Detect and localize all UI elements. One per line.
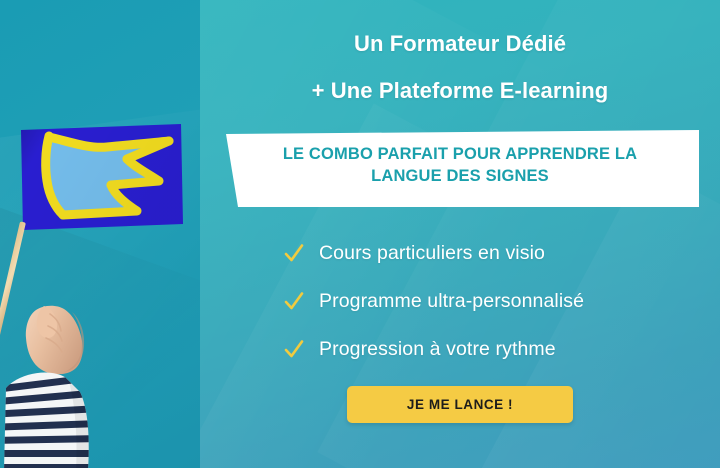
content-panel: Un Formateur Dédié + Une Plateforme E-le… xyxy=(200,0,720,468)
sign-language-flag xyxy=(18,122,184,234)
headline-group: Un Formateur Dédié + Une Plateforme E-le… xyxy=(200,30,720,104)
check-icon xyxy=(282,241,306,265)
highlight-strip-text: LE COMBO PARFAIT POUR APPRENDRE LA LANGU… xyxy=(240,144,680,188)
check-icon xyxy=(282,289,306,313)
list-item-label: Cours particuliers en visio xyxy=(319,242,545,265)
photo-panel xyxy=(0,0,200,468)
hand-icon xyxy=(22,288,94,378)
list-item: Progression à votre rythme xyxy=(282,325,584,373)
list-item-label: Programme ultra-personnalisé xyxy=(319,290,584,313)
headline-secondary: + Une Plateforme E-learning xyxy=(200,77,720,105)
striped-sleeve xyxy=(4,366,98,468)
highlight-line-1: LE COMBO PARFAIT POUR APPRENDRE LA xyxy=(240,144,680,166)
flag-icon xyxy=(18,122,184,234)
check-icon xyxy=(282,337,306,361)
headline-primary: Un Formateur Dédié xyxy=(200,30,720,58)
cta-button[interactable]: JE ME LANCE ! xyxy=(347,386,573,423)
feature-list: Cours particuliers en visio Programme ul… xyxy=(282,229,584,373)
hand xyxy=(22,288,94,378)
highlight-line-2: LANGUE DES SIGNES xyxy=(240,166,680,188)
sleeve-icon xyxy=(4,366,98,468)
list-item: Cours particuliers en visio xyxy=(282,229,584,277)
list-item: Programme ultra-personnalisé xyxy=(282,277,584,325)
highlight-strip: LE COMBO PARFAIT POUR APPRENDRE LA LANGU… xyxy=(218,130,699,210)
list-item-label: Progression à votre rythme xyxy=(319,338,556,361)
promo-banner: Un Formateur Dédié + Une Plateforme E-le… xyxy=(0,0,720,468)
